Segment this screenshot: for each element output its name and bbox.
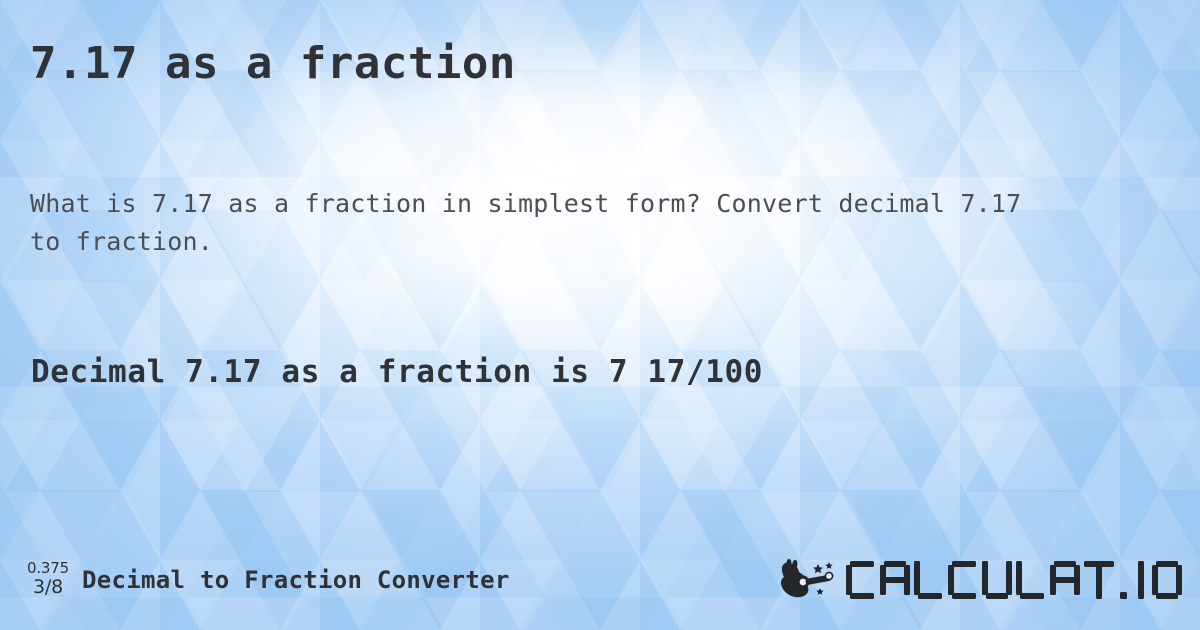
brand-letter-t <box>1084 561 1114 599</box>
brand-letter-a-1 <box>880 561 910 599</box>
page-title: 7.17 as a fraction <box>30 38 516 89</box>
brand-letter-i <box>1135 561 1148 599</box>
fraction-logo-fraction: 3/8 <box>27 578 69 597</box>
brand-letter-a-2 <box>1050 561 1080 599</box>
footer-brand-group: 0.375 3/8 Decimal to Fraction Converter <box>27 556 510 604</box>
brand-letter-u <box>982 561 1012 599</box>
fraction-logo-icon: 0.375 3/8 <box>27 561 69 599</box>
brand-letter-o <box>1152 561 1182 599</box>
brand-letter-c-2 <box>948 561 978 599</box>
tool-name-label: Decimal to Fraction Converter <box>82 566 510 594</box>
share-card: 7.17 as a fraction What is 7.17 as a fra… <box>0 0 1200 630</box>
brand-letter-l-2 <box>1016 561 1046 599</box>
card-footer: 0.375 3/8 Decimal to Fraction Converter <box>0 556 1200 604</box>
site-logo[interactable] <box>778 556 1186 604</box>
answer-statement: Decimal 7.17 as a fraction is 7 17/100 <box>31 354 763 390</box>
brand-letter-dot <box>1118 561 1131 599</box>
brand-letter-l-1 <box>914 561 944 599</box>
brand-letter-c-1 <box>846 561 876 599</box>
card-content: 7.17 as a fraction What is 7.17 as a fra… <box>0 0 1200 630</box>
fraction-logo-decimal: 0.375 <box>27 561 69 576</box>
hand-holding-magic-wand-icon <box>778 558 840 602</box>
brand-wordmark <box>846 558 1186 602</box>
page-subtitle: What is 7.17 as a fraction in simplest f… <box>30 185 1040 261</box>
